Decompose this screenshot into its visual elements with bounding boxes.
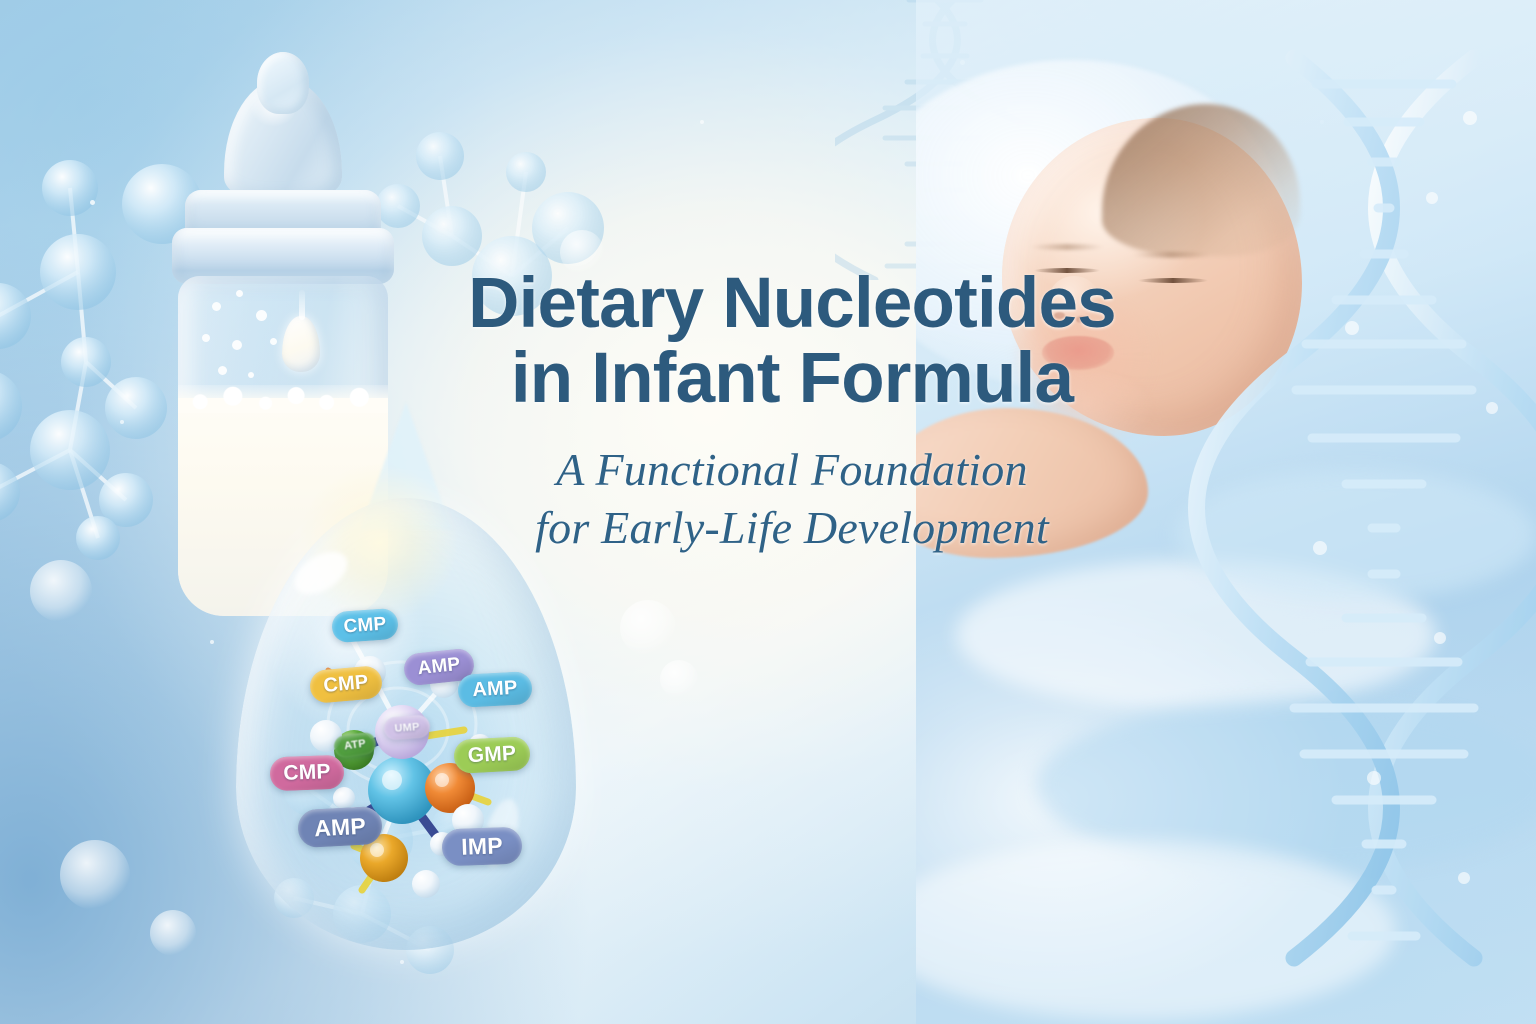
title-line-2: in Infant Formula [452, 341, 1132, 416]
milk-droplet-falling [282, 316, 320, 372]
poster-canvas: CMPAMPAMPCMPGMPCMPAMPIMPATPUMP Dietary N… [0, 0, 1536, 1024]
page-title: Dietary Nucleotides in Infant Formula [452, 266, 1132, 417]
baby-eyebrow [1030, 244, 1104, 250]
nucleotide-label-cmp: CMP [269, 755, 344, 792]
page-subtitle: A Functional Foundation for Early-Life D… [452, 441, 1132, 559]
dna-double-helix [1224, 78, 1536, 958]
baby-eye-closed [1138, 278, 1208, 283]
nucleotide-label-gmp: GMP [453, 736, 531, 774]
nucleotide-label-ump: UMP [383, 714, 430, 740]
subtitle-line-2: for Early-Life Development [452, 499, 1132, 558]
bottle-nipple [224, 78, 342, 204]
baby-eyebrow [1132, 252, 1210, 258]
milk-droplet: CMPAMPAMPCMPGMPCMPAMPIMPATPUMP [236, 498, 576, 950]
nucleotide-label-amp: AMP [297, 806, 383, 848]
title-line-1: Dietary Nucleotides [452, 266, 1132, 341]
nucleotide-label-cmp: CMP [331, 608, 399, 644]
nucleotide-label-amp: AMP [457, 671, 533, 708]
subtitle-line-1: A Functional Foundation [452, 441, 1132, 500]
milk-foam [178, 385, 388, 413]
poster-text: Dietary Nucleotides in Infant Formula A … [452, 266, 1132, 558]
nucleotide-label-imp: IMP [441, 827, 522, 867]
